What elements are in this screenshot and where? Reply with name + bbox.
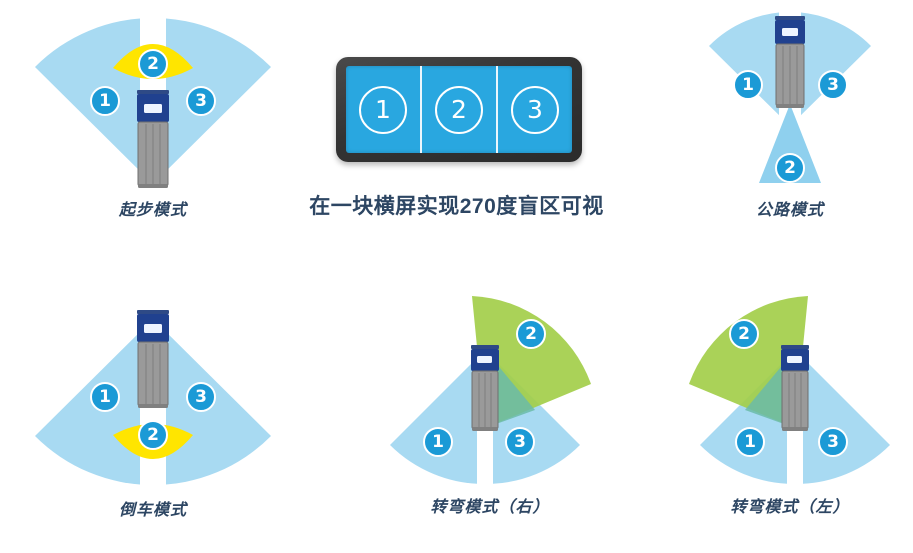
badge-zone-1: 1 [423,427,453,457]
mode-caption-turn-right: 转弯模式（右） [375,493,605,517]
mode-caption-turn-left: 转弯模式（左） [675,493,905,517]
badge-zone-2: 2 [729,319,759,349]
truck-icon [134,310,172,410]
truck-icon [779,345,811,435]
circled-three-icon: 3 [511,86,559,134]
badge-zone-1: 1 [733,70,763,100]
badge-zone-1: 1 [90,86,120,116]
badge-zone-2: 2 [516,319,546,349]
truck-icon [773,16,807,111]
mode-panel-turn-left: 1 2 3 转弯模式（左） [675,288,905,523]
diagram-canvas: 1 2 3 起步模式 1 2 3 在一块横屏实现270度盲区可视 [0,0,913,553]
mode-panel-reverse: 1 2 3 倒车模式 [28,305,278,525]
badge-zone-3: 3 [186,382,216,412]
badge-zone-3: 3 [818,70,848,100]
screen-cell-3[interactable]: 3 [496,66,572,153]
circled-one-icon: 1 [359,86,407,134]
mode-panel-turn-right: 1 2 3 转弯模式（右） [375,288,605,523]
display-monitor[interactable]: 1 2 3 [336,57,582,162]
badge-zone-2: 2 [775,153,805,183]
badge-zone-3: 3 [818,427,848,457]
badge-zone-2: 2 [138,420,168,450]
mode-panel-highway: 1 2 3 公路模式 [690,8,890,223]
truck-icon [469,345,501,435]
mode-caption-highway: 公路模式 [690,196,890,220]
mode-caption-reverse: 倒车模式 [28,496,278,520]
badge-zone-3: 3 [186,86,216,116]
badge-zone-2: 2 [138,49,168,79]
monitor-screen: 1 2 3 [346,66,572,153]
truck-icon [134,90,172,190]
screen-cell-1[interactable]: 1 [346,66,420,153]
badge-zone-1: 1 [90,382,120,412]
badge-zone-1: 1 [735,427,765,457]
screen-cell-2[interactable]: 2 [420,66,496,153]
circled-two-icon: 2 [435,86,483,134]
badge-zone-3: 3 [505,427,535,457]
